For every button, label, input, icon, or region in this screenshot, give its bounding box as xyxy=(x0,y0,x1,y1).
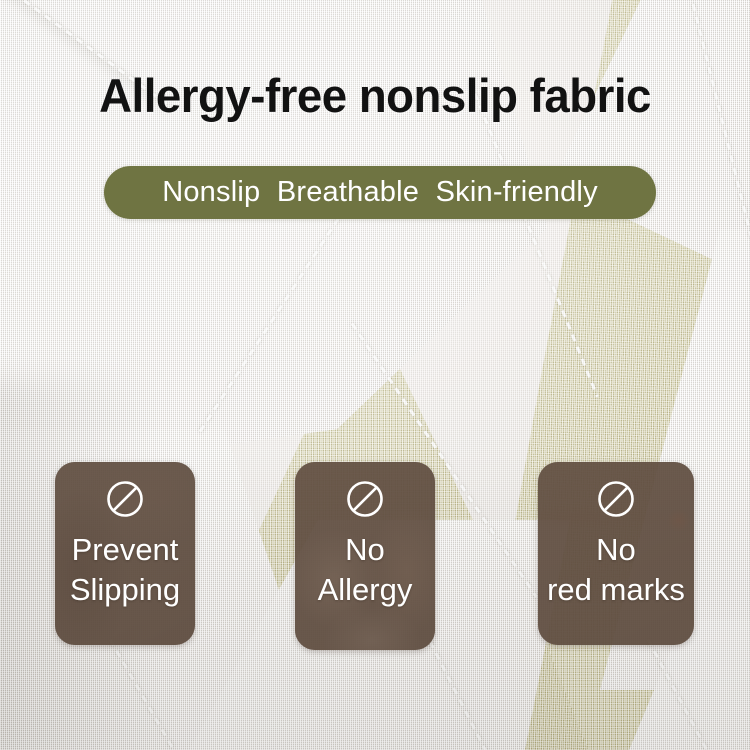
product-feature-poster: Allergy-free nonslip fabric Nonslip Brea… xyxy=(0,0,750,750)
feature-card-no-red-marks[interactable]: No red marks xyxy=(538,462,694,645)
feature-card-no-allergy[interactable]: No Allergy xyxy=(295,462,435,650)
prohibition-icon xyxy=(595,478,637,520)
benefits-banner: Nonslip Breathable Skin-friendly xyxy=(104,166,656,219)
prohibition-icon xyxy=(104,478,146,520)
feature-card-label: No red marks xyxy=(501,530,731,611)
poster-title: Allergy-free nonslip fabric xyxy=(11,68,739,123)
benefits-banner-text: Nonslip Breathable Skin-friendly xyxy=(162,176,598,209)
feature-card-prevent-slipping[interactable]: Prevent Slipping xyxy=(55,462,195,645)
feature-card-label: Prevent Slipping xyxy=(10,530,240,611)
feature-card-label: No Allergy xyxy=(250,530,480,611)
prohibition-icon xyxy=(344,478,386,520)
